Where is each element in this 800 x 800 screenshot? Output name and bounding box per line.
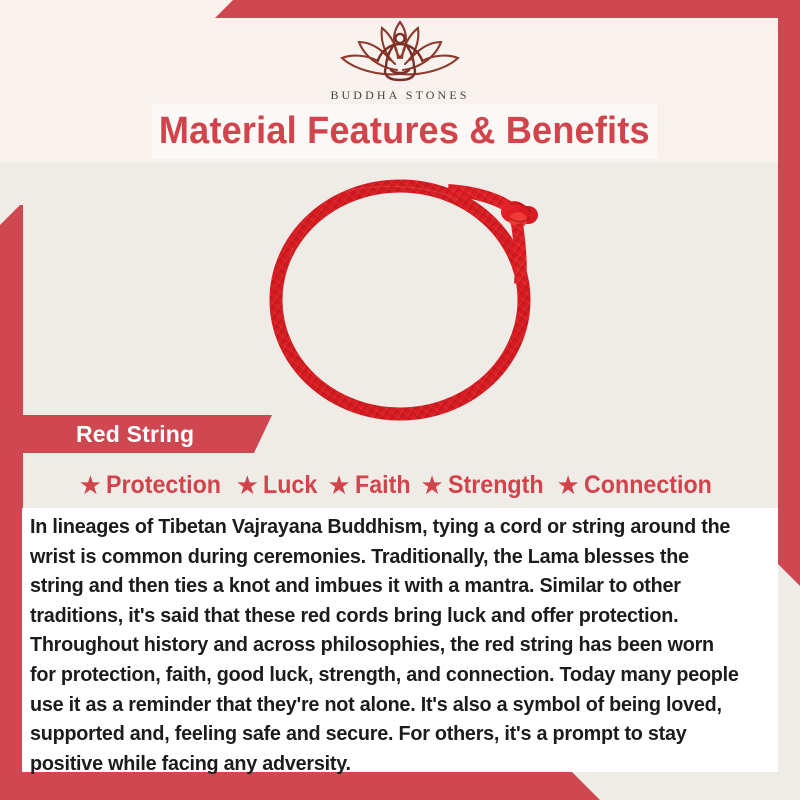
benefits-row: ★ Protection ★ Luck ★ Faith ★ Strength ★…	[22, 466, 778, 504]
star-icon: ★	[327, 472, 350, 498]
benefit-label: Strength	[448, 471, 544, 500]
benefit-item-strength: ★ Strength	[420, 471, 550, 500]
description-text: In lineages of Tibetan Vajrayana Buddhis…	[30, 512, 744, 778]
benefit-item-connection: ★ Connection	[556, 471, 721, 500]
product-photo	[252, 168, 562, 426]
benefit-item-protection: ★ Protection	[79, 471, 230, 500]
product-name-ribbon: Red String	[22, 415, 272, 453]
lotus-meditation-icon	[325, 14, 475, 86]
benefit-label: Faith	[355, 471, 411, 500]
frame-accent-left-lower	[0, 427, 23, 772]
product-name-label: Red String	[76, 421, 194, 448]
benefit-label: Luck	[263, 471, 317, 500]
red-string-bracelet-illustration	[252, 168, 562, 426]
star-icon: ★	[79, 472, 102, 498]
benefit-item-luck: ★ Luck	[236, 471, 322, 500]
infographic-page: BUDDHA STONES Material Features & Benefi…	[0, 0, 800, 800]
star-icon: ★	[420, 472, 443, 498]
benefit-label: Connection	[584, 471, 712, 500]
brand-logo: BUDDHA STONES	[0, 14, 800, 103]
star-icon: ★	[236, 472, 259, 498]
frame-accent-left	[0, 205, 23, 427]
benefit-item-faith: ★ Faith	[327, 471, 414, 500]
star-icon: ★	[556, 472, 579, 498]
brand-wordmark: BUDDHA STONES	[0, 88, 800, 103]
title-banner: Material Features & Benefits	[152, 104, 657, 159]
page-title: Material Features & Benefits	[159, 110, 650, 153]
description-panel: In lineages of Tibetan Vajrayana Buddhis…	[22, 508, 778, 772]
benefit-label: Protection	[106, 471, 221, 500]
